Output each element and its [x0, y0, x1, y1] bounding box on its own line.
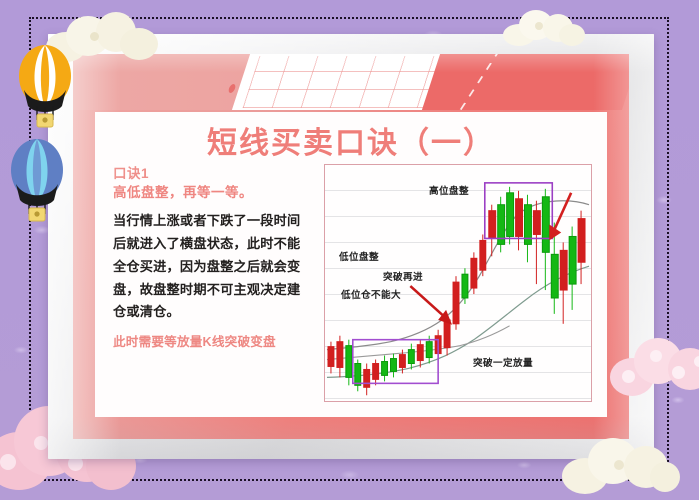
- candle: [471, 252, 477, 294]
- chart-annotation-low-consolidation: 低位盘整: [339, 249, 379, 263]
- formula-heading: 口诀1: [113, 165, 313, 183]
- candle: [480, 234, 486, 276]
- cloud-top-right: [503, 8, 585, 46]
- candle: [489, 205, 496, 257]
- candle: [524, 195, 531, 262]
- candle: [399, 350, 405, 374]
- mat-band-pale: [73, 54, 251, 110]
- formula-footnote: 此时需要等放量K线突破变盘: [113, 331, 313, 350]
- content-card: 短线买卖口诀（一） 口诀1 高低盘整，再等一等。 当行情上涨或者下跌了一段时间后…: [95, 112, 607, 417]
- chart-annotation-high-consolidation: 高位盘整: [429, 183, 469, 197]
- chart-annotation-breakout-enter: 突破再进: [383, 269, 423, 283]
- candle: [462, 268, 468, 304]
- text-column: 口诀1 高低盘整，再等一等。 当行情上涨或者下跌了一段时间后就进入了横盘状态，此…: [113, 165, 313, 350]
- formula-subheading: 高低盘整，再等一等。: [113, 183, 313, 203]
- candle: [382, 356, 388, 382]
- orange-balloon: [16, 44, 74, 130]
- candlestick-series: [325, 165, 591, 401]
- mat-band-coral: [422, 54, 629, 110]
- candle: [391, 354, 397, 378]
- chart-annotation-breakout-volume: 突破一定放量: [473, 355, 533, 369]
- candle: [373, 360, 379, 386]
- candle: [498, 197, 505, 253]
- blue-balloon: [8, 138, 66, 224]
- breakout-arrow: [410, 286, 452, 325]
- candle: [542, 189, 549, 290]
- photo-frame: 短线买卖口诀（一） 口诀1 高低盘整，再等一等。 当行情上涨或者下跌了一段时间后…: [48, 34, 654, 459]
- candle: [355, 360, 361, 392]
- candle: [417, 340, 423, 368]
- cloud-bottom-center: [562, 436, 680, 494]
- candle: [507, 187, 514, 245]
- candle: [533, 201, 540, 284]
- candle: [346, 340, 352, 386]
- candle: [453, 276, 459, 330]
- page-title: 短线买卖口诀（一）: [95, 118, 607, 162]
- candlestick-chart: 高位盘整 低位盘整 低位仓不能大 突破再进 突破一定放量: [324, 164, 592, 402]
- coral-mat: 短线买卖口诀（一） 口诀1 高低盘整，再等一等。 当行情上涨或者下跌了一段时间后…: [73, 54, 629, 439]
- candle: [337, 336, 343, 378]
- candle: [578, 211, 585, 284]
- candle: [408, 344, 414, 370]
- formula-body: 当行情上涨或者下跌了一段时间后就进入了横盘状态，此时不能全仓买进，因为盘整之后就…: [113, 210, 313, 324]
- candle: [516, 191, 523, 251]
- candle: [560, 242, 567, 323]
- candle: [364, 364, 370, 396]
- chart-annotation-low-position-small: 低位仓不能大: [341, 287, 401, 301]
- candle: [569, 227, 576, 310]
- cloud-bottom-right: [610, 336, 699, 398]
- candle: [328, 342, 334, 374]
